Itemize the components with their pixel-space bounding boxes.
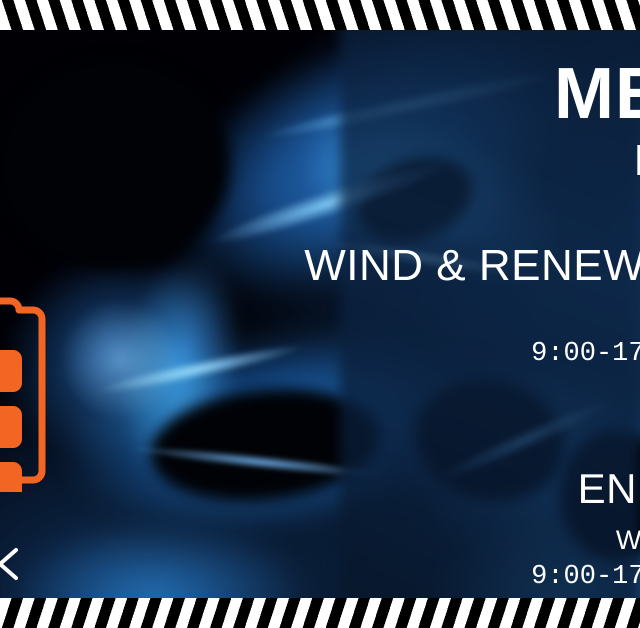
event-day-1: Tuesday — [198, 302, 640, 333]
liquid-highlight — [60, 300, 180, 420]
event-time-1: 9:00-17:00 | V — [198, 339, 640, 370]
poster-canvas: MEET EXPO WIND & RENEWABLE Tuesday 9:00-… — [0, 0, 640, 628]
poster-text-block: MEET EXPO WIND & RENEWABLE Tuesday 9:00-… — [198, 58, 640, 593]
hazard-stripe-top — [0, 0, 640, 30]
event-day-2: Wednesday — [198, 525, 640, 556]
poster-subtitle: WIND & RENEWABLE — [198, 242, 640, 290]
liquid-dark-pocket — [0, 60, 230, 270]
battery-icon — [0, 288, 50, 492]
chevron-left-icon[interactable] — [0, 546, 24, 582]
hazard-stripe-bottom — [0, 598, 640, 628]
page-title: MEET — [198, 58, 640, 131]
event-title-2: ENERGY — [198, 466, 640, 512]
event-title-1: EXPO — [198, 137, 640, 185]
event-section-2: ENERGY Wednesday 9:00-17:00 | V — [198, 466, 640, 592]
event-time-2: 9:00-17:00 | V — [198, 562, 640, 593]
